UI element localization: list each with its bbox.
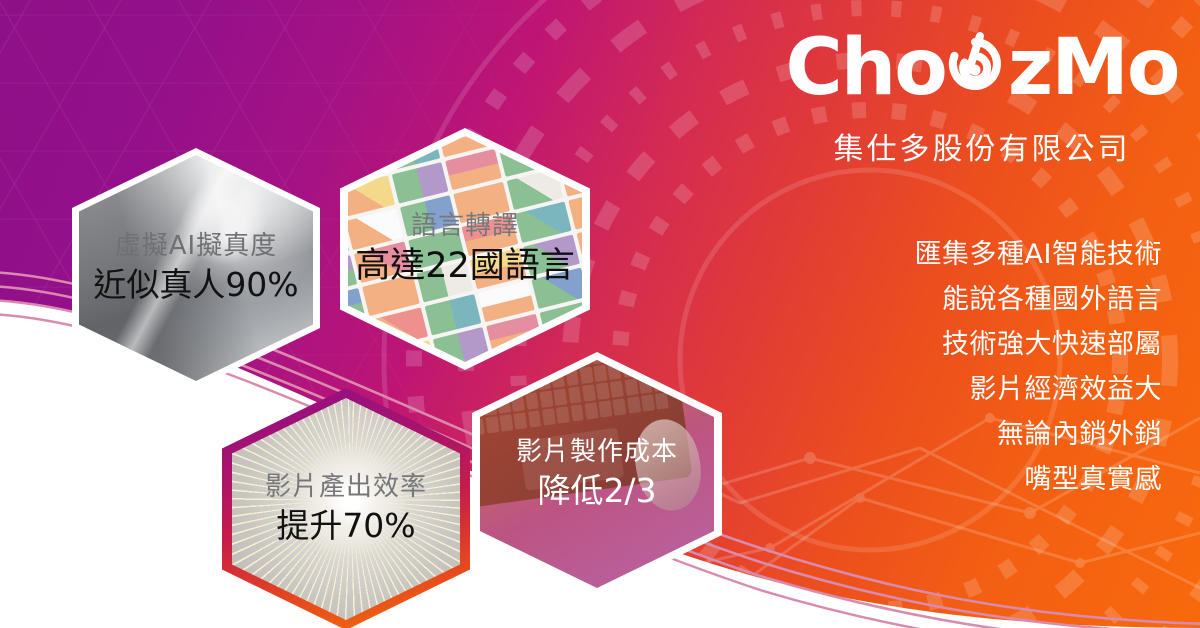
logo-text-left: Cho	[786, 29, 946, 107]
logo: Cho zMo	[802, 22, 1162, 114]
badge-value: 提升70%	[238, 507, 454, 545]
badge-caption: 語言轉譯	[354, 212, 576, 241]
feature-list: 匯集多種AI智能技術 能說各種國外語言 技術強大快速部屬 影片經濟效益大 無論內…	[762, 232, 1162, 502]
feature-item: 無論內銷外銷	[762, 412, 1162, 457]
logo-text-right: zMo	[1008, 29, 1179, 107]
badge-caption: 虛擬AI擬真度	[85, 232, 307, 261]
badge-caption: 影片產出效率	[238, 473, 454, 502]
feature-item: 嘴型真實感	[762, 457, 1162, 502]
feature-item: 影片經濟效益大	[762, 367, 1162, 412]
feature-item: 能說各種國外語言	[762, 277, 1162, 322]
feature-item: 技術強大快速部屬	[762, 322, 1162, 367]
promo-banner: Cho zMo 集仕多股份有限公司 匯集多種AI智能技術 能說各種國外語言 技術…	[0, 0, 1200, 628]
company-name: 集仕多股份有限公司	[802, 124, 1162, 168]
feature-item: 匯集多種AI智能技術	[762, 232, 1162, 277]
badge-value: 近似真人90%	[85, 266, 307, 304]
badge-value: 高達22國語言	[354, 246, 576, 286]
brand-block: Cho zMo 集仕多股份有限公司	[802, 22, 1162, 168]
spiral-target-icon	[936, 26, 1014, 111]
badge-value: 降低2/3	[486, 472, 708, 510]
badge-caption: 影片製作成本	[486, 438, 708, 467]
